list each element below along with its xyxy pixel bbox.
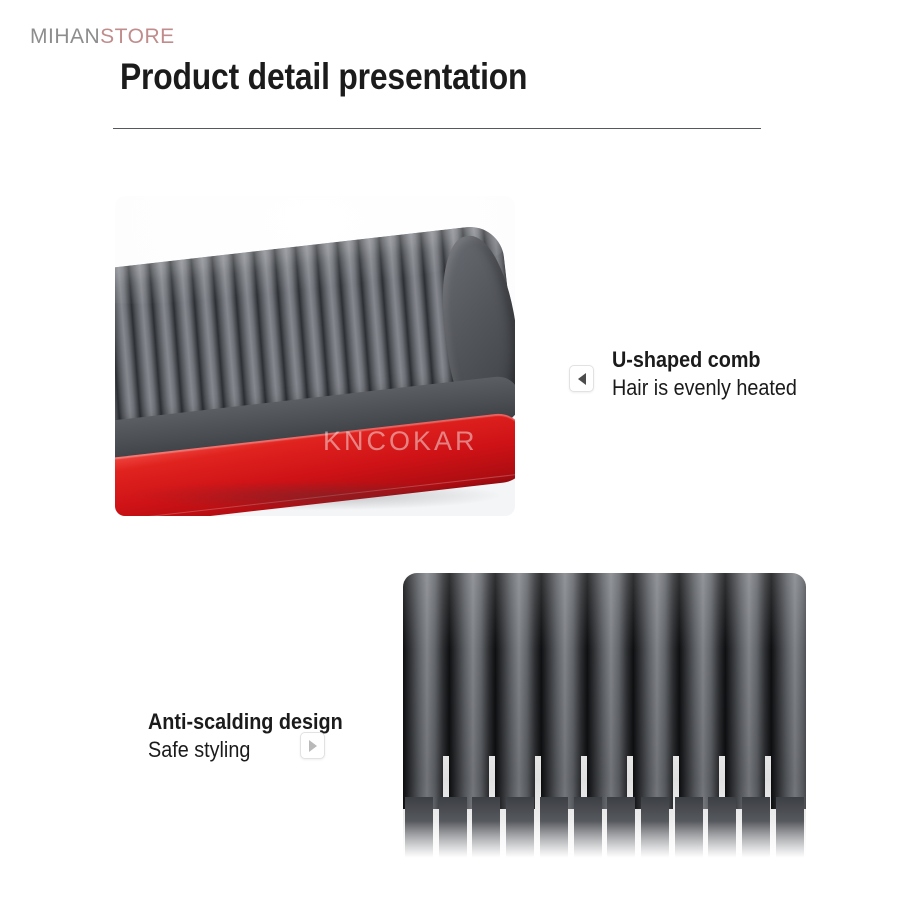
triangle-right-icon	[309, 740, 317, 752]
product-drop-shadow	[131, 481, 499, 510]
comb-angle-scene: KNCOKAR	[115, 196, 515, 516]
brand-logo: MIHANSTORE	[30, 26, 175, 47]
product-photo-comb-angle: KNCOKAR	[115, 196, 515, 516]
title-divider	[113, 128, 761, 129]
brand-logo-secondary: STORE	[100, 25, 174, 48]
triangle-left-icon	[578, 373, 586, 385]
caption-u-shaped-line2: Hair is evenly heated	[612, 374, 797, 402]
brand-logo-primary: MIHAN	[30, 25, 100, 48]
macro-bottom-fade	[403, 821, 806, 868]
product-detail-page: MIHANSTORE Product detail presentation K…	[0, 0, 900, 900]
brush-head-illustration	[115, 218, 515, 494]
product-photo-teeth-macro	[403, 573, 806, 868]
page-title: Product detail presentation	[120, 58, 527, 97]
caption-u-shaped-line1: U-shaped comb	[612, 346, 797, 374]
carousel-next-button[interactable]	[300, 732, 325, 759]
caption-anti-scalding: Anti-scalding design Safe styling	[148, 708, 364, 764]
carousel-prev-button[interactable]	[569, 365, 594, 392]
teeth-macro-scene	[403, 573, 806, 868]
caption-u-shaped-comb: U-shaped comb Hair is evenly heated	[612, 346, 817, 402]
